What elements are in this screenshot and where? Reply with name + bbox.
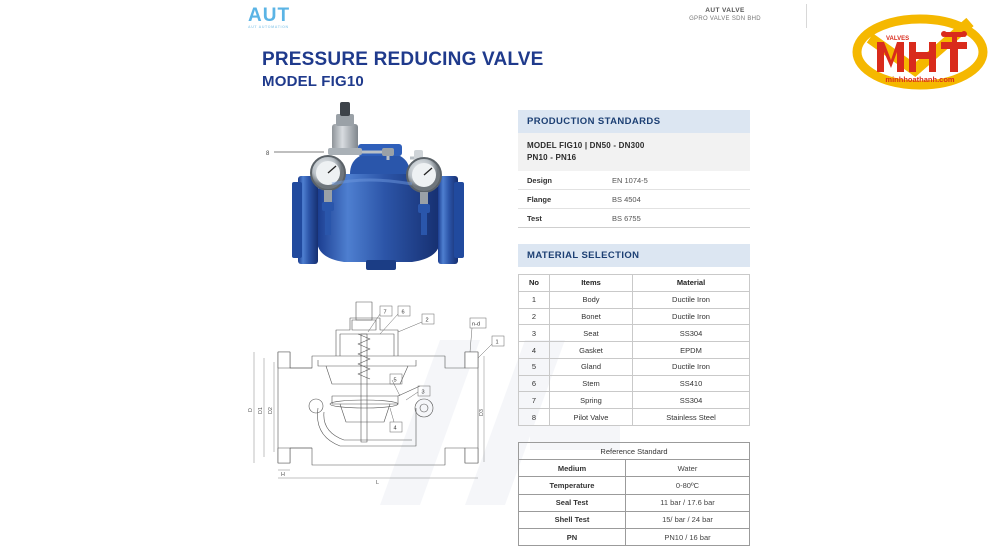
material-no: 7	[519, 392, 550, 409]
material-no: 1	[519, 291, 550, 308]
table-header-row: Reference Standard	[519, 443, 750, 460]
drawing-callout-2: 2	[426, 318, 429, 324]
material-no: 8	[519, 409, 550, 426]
title-line-1: PRESSURE REDUCING VALVE	[262, 48, 544, 71]
mht-url-text: minhhoathanh.com	[885, 75, 954, 84]
standard-key: Flange	[518, 190, 598, 209]
dimension-D1: D1	[258, 407, 264, 414]
drawing-callout-3: 3	[422, 390, 425, 396]
model-range-block: MODEL FIG10 | DN50 - DN300 PN10 - PN16	[518, 133, 750, 171]
aut-logo-tagline: AUT AUTOMATION	[248, 25, 318, 30]
standard-key: Test	[518, 209, 598, 228]
table-row: Flange BS 4504	[518, 190, 750, 209]
column-header-items: Items	[550, 275, 633, 292]
table-row: 2 Bonet Ductile Iron	[519, 308, 750, 325]
material-no: 5	[519, 358, 550, 375]
drawing-callout-5: 5	[394, 378, 397, 384]
material-no: 2	[519, 308, 550, 325]
table-row: Temperature 0-80ºC	[519, 477, 750, 494]
dimension-D2: D2	[268, 407, 274, 414]
reference-value: 15/ bar / 24 bar	[626, 511, 750, 528]
reference-key: Seal Test	[519, 494, 626, 511]
table-row: 3 Seat SS304	[519, 325, 750, 342]
standard-value: BS 6755	[598, 209, 750, 228]
drawing-callout-7: 7	[384, 310, 387, 316]
reference-standard-heading: Reference Standard	[519, 443, 750, 460]
page-title: PRESSURE REDUCING VALVE MODEL FIG10	[262, 48, 544, 92]
material-no: 6	[519, 375, 550, 392]
material-item: Spring	[550, 392, 633, 409]
model-line-2: PN10 - PN16	[527, 152, 741, 164]
reference-value: Water	[626, 460, 750, 477]
table-row: 8 Pilot Valve Stainless Steel	[519, 409, 750, 426]
drawing-callout-nd: n-d	[472, 322, 480, 328]
material-item: Body	[550, 291, 633, 308]
material-item: Pilot Valve	[550, 409, 633, 426]
aut-logo: AUT AUT AUTOMATION	[248, 6, 318, 30]
material-selection-table: No Items Material 1 Body Ductile Iron 2 …	[518, 274, 750, 426]
aut-logo-text: AUT	[248, 6, 318, 25]
material-value: Stainless Steel	[633, 409, 750, 426]
reference-value: 11 bar / 17.6 bar	[626, 494, 750, 511]
table-row: 5 Gland Ductile Iron	[519, 358, 750, 375]
material-selection-heading: MATERIAL SELECTION	[518, 244, 750, 267]
material-value: SS304	[633, 392, 750, 409]
table-header-row: No Items Material	[519, 275, 750, 292]
table-row: Medium Water	[519, 460, 750, 477]
reference-key: Temperature	[519, 477, 626, 494]
datasheet-page: AUT AUT AUTOMATION AUT VALVE GPRO VALVE …	[0, 0, 1000, 500]
material-item: Seat	[550, 325, 633, 342]
material-value: Ductile Iron	[633, 358, 750, 375]
reference-key: PN	[519, 528, 626, 545]
company-header: AUT VALVE GPRO VALVE SDN BHD	[640, 6, 810, 23]
table-row: 4 Gasket EPDM	[519, 342, 750, 359]
valve-photograph: 8	[262, 100, 512, 290]
material-value: Ductile Iron	[633, 291, 750, 308]
reference-key: Shell Test	[519, 511, 626, 528]
table-row: 7 Spring SS304	[519, 392, 750, 409]
standard-value: EN 1074-5	[598, 171, 750, 190]
table-row: 1 Body Ductile Iron	[519, 291, 750, 308]
production-standards-table: Design EN 1074-5 Flange BS 4504 Test BS …	[518, 171, 750, 228]
table-row: 6 Stem SS410	[519, 375, 750, 392]
standard-value: BS 4504	[598, 190, 750, 209]
dimension-D3: D3	[479, 409, 485, 416]
table-row: Shell Test 15/ bar / 24 bar	[519, 511, 750, 528]
reference-key: Medium	[519, 460, 626, 477]
column-header-material: Material	[633, 275, 750, 292]
mht-logo: VALVES minhhoathanh.com	[845, 8, 995, 96]
material-value: SS410	[633, 375, 750, 392]
company-subsidiary: GPRO VALVE SDN BHD	[640, 15, 810, 23]
specifications-column: PRODUCTION STANDARDS MODEL FIG10 | DN50 …	[518, 110, 750, 546]
dimension-L: L	[376, 480, 379, 486]
material-no: 3	[519, 325, 550, 342]
dimension-H: H	[281, 472, 285, 478]
table-row: Test BS 6755	[518, 209, 750, 228]
reference-value: 0-80ºC	[626, 477, 750, 494]
model-line-1: MODEL FIG10 | DN50 - DN300	[527, 140, 741, 152]
table-row: PN PN10 / 16 bar	[519, 528, 750, 545]
reference-value: PN10 / 16 bar	[626, 528, 750, 545]
column-header-no: No	[519, 275, 550, 292]
photo-callout-8: 8	[266, 151, 270, 157]
material-item: Gland	[550, 358, 633, 375]
table-row: Design EN 1074-5	[518, 171, 750, 190]
mht-valves-text: VALVES	[886, 36, 909, 42]
material-item: Bonet	[550, 308, 633, 325]
production-standards-heading: PRODUCTION STANDARDS	[518, 110, 750, 133]
material-no: 4	[519, 342, 550, 359]
drawing-callout-4: 4	[394, 426, 397, 432]
company-name: AUT VALVE	[640, 6, 810, 15]
standard-key: Design	[518, 171, 598, 190]
title-line-2: MODEL FIG10	[262, 72, 544, 92]
reference-standard-table: Reference Standard Medium Water Temperat…	[518, 442, 750, 546]
drawing-callout-6: 6	[402, 310, 405, 316]
valve-cross-section-drawing: D D1 D2 D3 L H	[240, 300, 515, 500]
material-value: SS304	[633, 325, 750, 342]
material-value: Ductile Iron	[633, 308, 750, 325]
material-item: Gasket	[550, 342, 633, 359]
table-row: Seal Test 11 bar / 17.6 bar	[519, 494, 750, 511]
dimension-D: D	[248, 408, 254, 412]
drawing-callout-1: 1	[496, 340, 499, 346]
material-item: Stem	[550, 375, 633, 392]
material-value: EPDM	[633, 342, 750, 359]
